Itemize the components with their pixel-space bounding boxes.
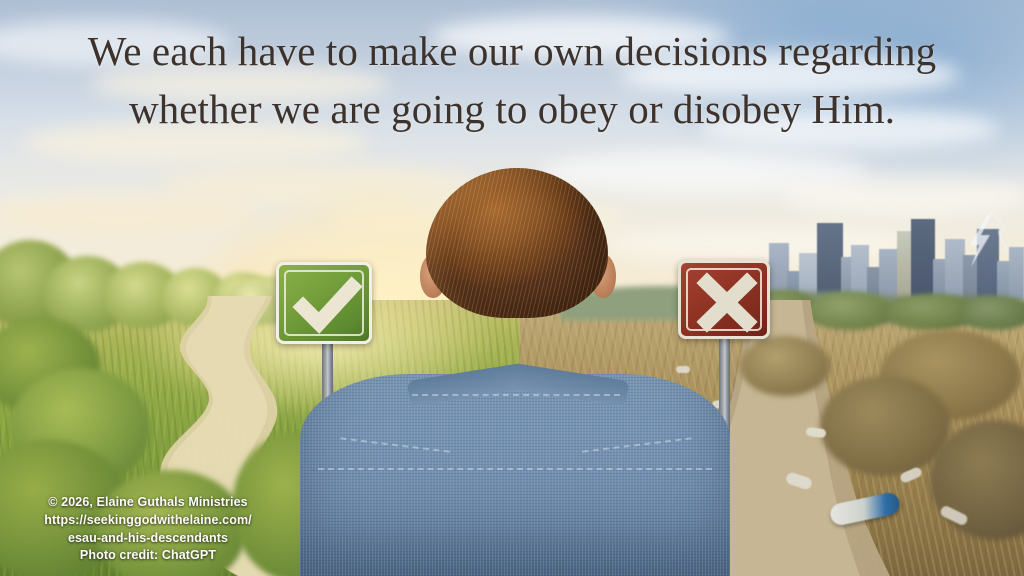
url-line-1: https://seekinggodwithelaine.com/ [8,512,288,530]
quote-text: We each have to make our own decisions r… [0,22,1024,138]
url-line-2: esau-and-his-descendants [8,530,288,548]
photo-credit-line: Photo credit: ChatGPT [8,547,288,565]
jacket-yoke-seam [318,468,712,470]
jacket-collar-seam [412,394,620,396]
quote-line-1: We each have to make our own decisions r… [18,22,1006,80]
slide-canvas: We each have to make our own decisions r… [0,0,1024,576]
lightning-bolt-icon [955,205,1015,285]
dry-brush [820,376,950,476]
hair-texture [426,168,608,318]
dry-brush [740,336,830,396]
man-figure [300,168,730,576]
copyright-line: © 2026, Elaine Guthals Ministries [8,494,288,512]
denim-texture [300,374,730,576]
credit-block: © 2026, Elaine Guthals Ministries https:… [8,494,288,565]
quote-line-2: whether we are going to obey or disobey … [18,80,1006,138]
